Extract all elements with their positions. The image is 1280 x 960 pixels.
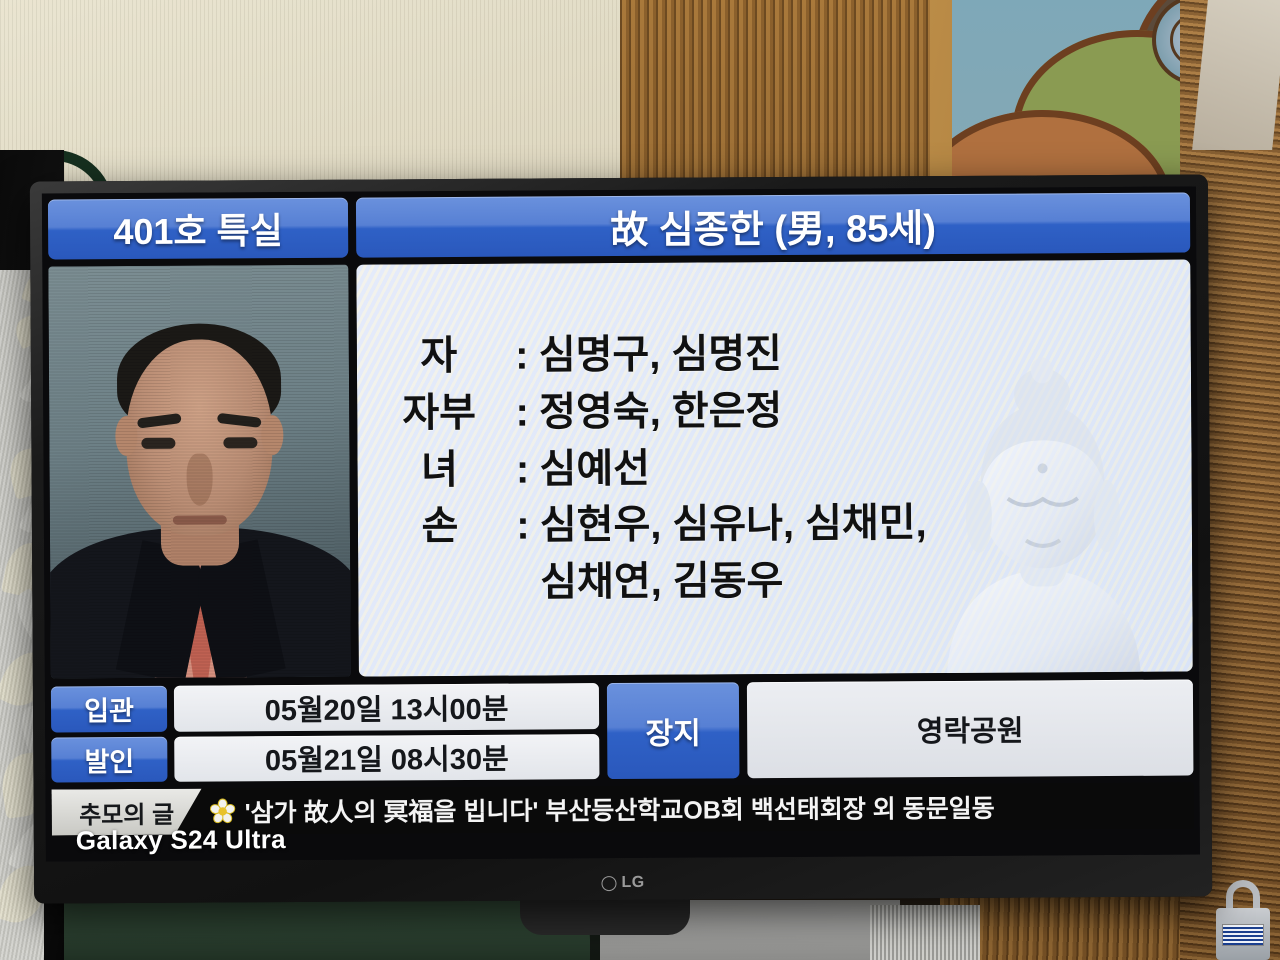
family-row: 손 : 심현우, 심유나, 심채민,: [358, 494, 1192, 556]
family-label: 손: [374, 498, 506, 556]
burial-site-label: 장지: [607, 682, 740, 779]
schedule-block: 입관 05월20일 13시00분 발인 05월21일 08시30분: [51, 683, 600, 782]
burial-site-value: 영락공원: [747, 680, 1194, 779]
memorial-ticker-message-wrap: '삼가 故人의 冥福을 빕니다' 부산등산학교OB회 백선태회장 외 동문일동: [202, 783, 1194, 835]
funeral-procession-time: 05월21일 08시30분: [174, 734, 599, 782]
family-colon: :: [505, 384, 539, 441]
padlock: [1214, 880, 1272, 960]
family-colon: :: [505, 441, 539, 498]
funeral-procession-label: 발인: [51, 736, 167, 782]
memorial-message: '삼가 故人의 冥福을 빕니다' 부산등산학교OB회 백선태회장 외 동문일동: [245, 789, 995, 830]
family-names: 심명구, 심명진: [539, 324, 1175, 385]
funeral-notice-display: 401호 특실 故 심종한 (男, 85세): [42, 186, 1200, 861]
white-wall-strip: [1192, 0, 1280, 150]
family-names: 정영숙, 한은정: [539, 380, 1175, 441]
lg-brand-logo: LG: [601, 874, 644, 892]
family-label: 자부: [373, 385, 505, 443]
family-colon: :: [506, 498, 540, 555]
family-label: 자: [373, 328, 505, 386]
tv-screen: 401호 특실 故 심종한 (男, 85세): [42, 186, 1200, 861]
header-row: 401호 특실 故 심종한 (男, 85세): [48, 193, 1190, 260]
family-row: 자 : 심명구, 심명진: [357, 324, 1191, 386]
camera-watermark: Galaxy S24 Ultra: [76, 824, 286, 856]
family-row: 자부 : 정영숙, 한은정: [357, 380, 1191, 442]
main-content-row: 자 : 심명구, 심명진 자부 : 정영숙, 한은정 녀 : 심예선: [48, 260, 1192, 679]
family-names: 심채연, 김동우: [540, 551, 1176, 612]
encoffining-time: 05월20일 13시00분: [174, 683, 599, 731]
lg-circle-icon: [601, 876, 616, 891]
deceased-portrait-photo: [48, 265, 351, 679]
family-names: 심현우, 심유나, 심채민,: [540, 494, 1176, 555]
plum-blossom-icon: [210, 798, 236, 824]
room-number-badge: 401호 특실: [48, 198, 348, 260]
tv-neck: [520, 895, 690, 935]
family-row-continuation: 심채연, 김동우: [358, 551, 1192, 613]
family-label: 녀: [373, 441, 505, 499]
family-row: 녀 : 심예선: [357, 437, 1191, 499]
tv-bezel: 401호 특실 故 심종한 (男, 85세): [30, 174, 1212, 903]
deceased-name-title: 故 심종한 (男, 85세): [356, 193, 1190, 258]
encoffining-label: 입관: [51, 686, 167, 732]
lg-brand-text: LG: [621, 874, 644, 892]
television: 401호 특실 故 심종한 (男, 85세): [30, 174, 1212, 903]
family-colon: :: [505, 327, 539, 384]
schedule-line: 입관 05월20일 13시00분: [51, 683, 599, 732]
schedule-row: 입관 05월20일 13시00분 발인 05월21일 08시30분 장지 영락공…: [51, 680, 1194, 783]
stand-striped-panel: [870, 905, 980, 960]
schedule-line: 발인 05월21일 08시30분: [51, 734, 599, 783]
family-names: 심예선: [539, 437, 1175, 498]
family-info-panel: 자 : 심명구, 심명진 자부 : 정영숙, 한은정 녀 : 심예선: [356, 260, 1193, 677]
